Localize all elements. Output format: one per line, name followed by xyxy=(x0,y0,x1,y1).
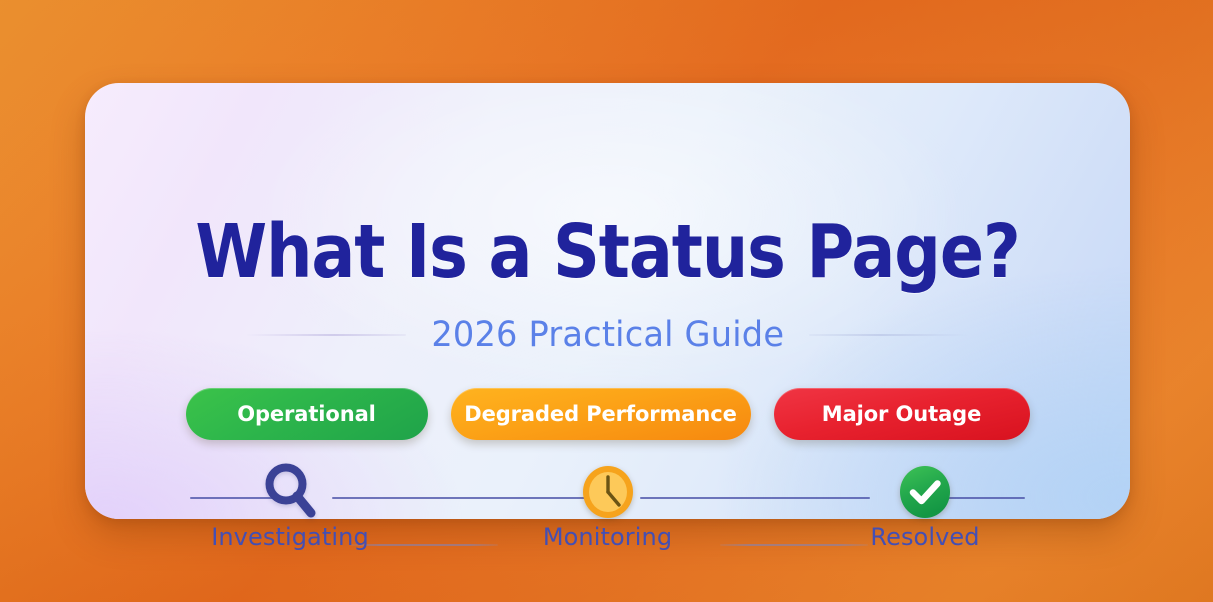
status-badge-degraded-performance-label: Degraded Performance xyxy=(464,402,736,426)
subtitle-row: 2026 Practical Guide xyxy=(85,314,1130,356)
timeline-step-investigating-label: Investigating xyxy=(211,523,369,551)
poster-canvas: What Is a Status Page? 2026 Practical Gu… xyxy=(0,0,1213,602)
timeline-step-monitoring[interactable]: Monitoring xyxy=(508,457,708,551)
timeline-step-monitoring-label: Monitoring xyxy=(543,523,672,551)
status-badge-major-outage-label: Major Outage xyxy=(822,402,981,426)
card-gradient-overlay xyxy=(85,83,1130,519)
subtitle-rule-right xyxy=(809,334,969,336)
status-badge-operational-label: Operational xyxy=(237,402,376,426)
status-badge-row: Operational Degraded Performance Major O… xyxy=(85,388,1130,440)
clock-icon xyxy=(581,457,635,527)
status-page-card: What Is a Status Page? 2026 Practical Gu… xyxy=(85,83,1130,519)
timeline-step-resolved[interactable]: Resolved xyxy=(825,457,1025,551)
page-subtitle: 2026 Practical Guide xyxy=(431,315,784,355)
timeline-step-resolved-label: Resolved xyxy=(870,523,979,551)
subtitle-rule-left xyxy=(246,334,406,336)
incident-timeline: Investigating Monitoring xyxy=(190,457,1025,577)
magnifier-icon xyxy=(261,457,319,527)
page-title: What Is a Status Page? xyxy=(148,215,1068,289)
status-badge-degraded-performance[interactable]: Degraded Performance xyxy=(451,388,751,440)
status-badge-major-outage[interactable]: Major Outage xyxy=(774,388,1030,440)
timeline-step-investigating[interactable]: Investigating xyxy=(190,457,390,551)
status-badge-operational[interactable]: Operational xyxy=(186,388,428,440)
check-circle-icon xyxy=(898,457,952,527)
timeline-steps: Investigating Monitoring xyxy=(190,457,1025,577)
